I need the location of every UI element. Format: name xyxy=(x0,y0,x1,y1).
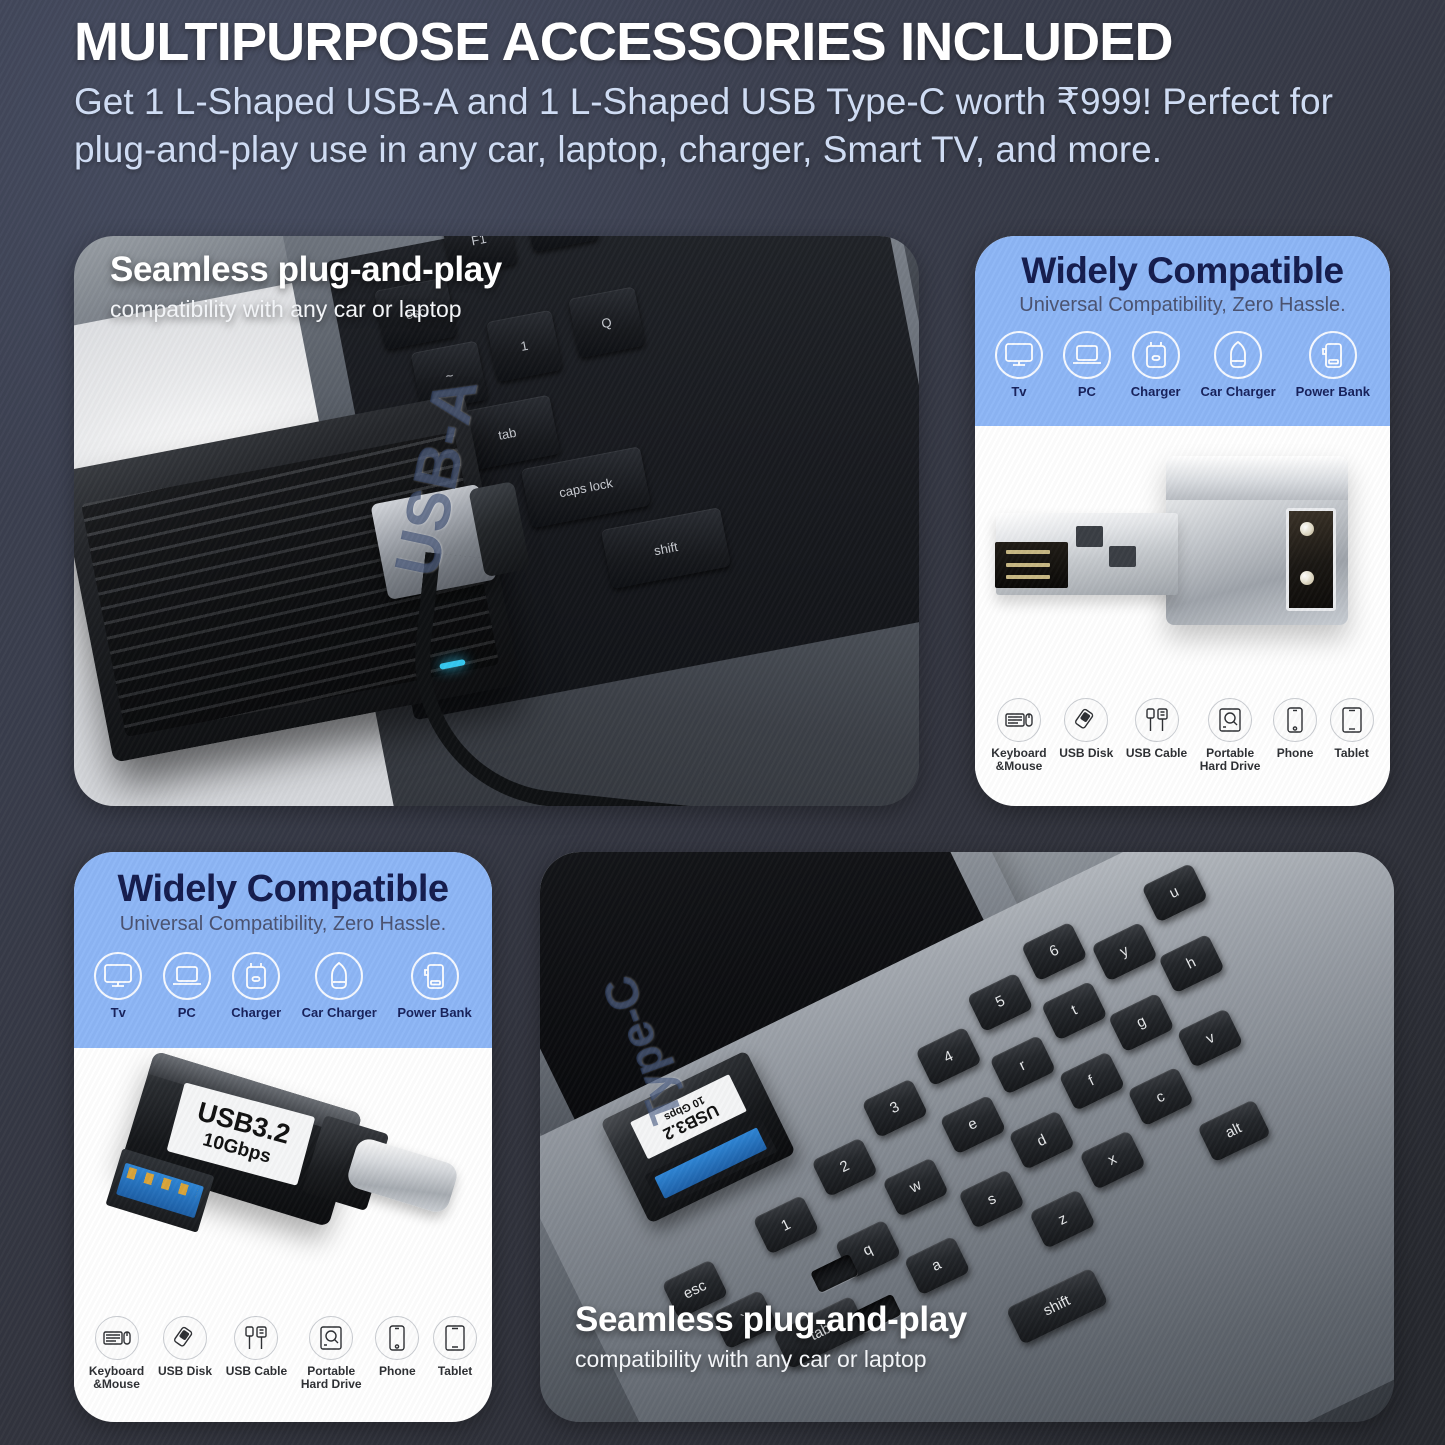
device-tablet-label: Tablet xyxy=(438,1365,472,1378)
device-charger: Charger xyxy=(1131,331,1181,399)
device-power-bank-label: Power Bank xyxy=(1296,385,1370,399)
usb-disk-icon xyxy=(1064,698,1108,742)
keycap-u: u xyxy=(1141,862,1208,922)
device-car-charger-label: Car Charger xyxy=(302,1006,377,1020)
keyboard-mouse-icon xyxy=(997,698,1041,742)
tv-icon xyxy=(995,331,1043,379)
device-tv: Tv xyxy=(995,331,1043,399)
phone-icon xyxy=(375,1316,419,1360)
device-tablet-label: Tablet xyxy=(1334,747,1368,760)
keycap-x: x xyxy=(1079,1130,1146,1190)
power-bank-icon xyxy=(1309,331,1357,379)
usb-cable-icon xyxy=(234,1316,278,1360)
panel-widely-compatible-usba: Widely Compatible Universal Compatibilit… xyxy=(975,236,1390,806)
compat-title: Widely Compatible xyxy=(74,868,492,911)
usb3-blue-insert xyxy=(115,1162,204,1218)
keycap-r: r xyxy=(989,1035,1056,1095)
keycap-d: d xyxy=(1008,1110,1075,1170)
keycap-y: y xyxy=(1091,921,1158,981)
wall-charger-icon xyxy=(1132,331,1180,379)
caption-title: Seamless plug-and-play xyxy=(110,250,630,290)
device-tv-label: Tv xyxy=(111,1006,126,1020)
usb-cable-icon xyxy=(1135,698,1179,742)
caption-bottom-right: Seamless plug-and-play compatibility wit… xyxy=(575,1300,1075,1373)
device-usb-disk-label: USB Disk xyxy=(1059,747,1113,760)
keycap-w: w xyxy=(883,1157,950,1217)
phone-icon xyxy=(1273,698,1317,742)
compat-white-footer: Keyboard &Mouse USB Disk xyxy=(74,1316,492,1391)
keycap-2: 2 xyxy=(812,1137,879,1197)
device-phone-label: Phone xyxy=(379,1365,416,1378)
tablet-icon xyxy=(433,1316,477,1360)
keycap-a: a xyxy=(904,1235,971,1295)
caption-title: Seamless plug-and-play xyxy=(575,1300,1075,1340)
car-charger-icon xyxy=(315,952,363,1000)
adapter-top-face xyxy=(1166,456,1349,500)
device-icon-row-bottom: Keyboard &Mouse USB Disk xyxy=(975,698,1390,773)
product-infographic: MULTIPURPOSE ACCESSORIES INCLUDED Get 1 … xyxy=(0,0,1445,1445)
device-usb-disk-label: USB Disk xyxy=(158,1365,212,1378)
compat-blue-header: Widely Compatible Universal Compatibilit… xyxy=(74,852,492,1048)
keycap-g: g xyxy=(1108,992,1175,1052)
device-pc-label: PC xyxy=(1078,385,1096,399)
keycap-3: 3 xyxy=(862,1078,929,1138)
device-phone: Phone xyxy=(1273,698,1317,760)
wall-charger-icon xyxy=(232,952,280,1000)
device-usb-disk: USB Disk xyxy=(1059,698,1113,760)
device-car-charger: Car Charger xyxy=(302,952,377,1020)
caption-subtitle: compatibility with any car or laptop xyxy=(110,296,630,323)
device-phone: Phone xyxy=(375,1316,419,1378)
compat-blue-header: Widely Compatible Universal Compatibilit… xyxy=(975,236,1390,426)
keycap-z: z xyxy=(1029,1189,1096,1249)
device-usb-disk: USB Disk xyxy=(158,1316,212,1378)
device-power-bank: Power Bank xyxy=(397,952,471,1020)
device-tablet: Tablet xyxy=(1330,698,1374,760)
compat-title: Widely Compatible xyxy=(975,250,1390,292)
device-power-bank-label: Power Bank xyxy=(397,1006,471,1020)
hard-drive-icon xyxy=(309,1316,353,1360)
keyboard-mouse-icon xyxy=(95,1316,139,1360)
compat-subtitle: Universal Compatibility, Zero Hassle. xyxy=(74,913,492,936)
panel-widely-compatible-usbc: Widely Compatible Universal Compatibilit… xyxy=(74,852,492,1422)
compat-white-footer: Keyboard &Mouse USB Disk xyxy=(975,698,1390,773)
device-usb-cable: USB Cable xyxy=(226,1316,287,1378)
keycap-4: 4 xyxy=(915,1027,982,1087)
device-icon-row-top: Tv PC xyxy=(975,331,1390,399)
device-icon-row-bottom: Keyboard &Mouse USB Disk xyxy=(74,1316,492,1391)
keycap-s: s xyxy=(959,1169,1026,1229)
page-subtitle: Get 1 L-Shaped USB-A and 1 L-Shaped USB … xyxy=(74,78,1334,173)
laptop-icon xyxy=(163,952,211,1000)
device-charger-label: Charger xyxy=(231,1006,281,1020)
device-keyboard-mouse: Keyboard &Mouse xyxy=(89,1316,144,1391)
page-title: MULTIPURPOSE ACCESSORIES INCLUDED xyxy=(74,14,1394,70)
product-image-usba-adapter xyxy=(975,426,1390,698)
laptop-icon xyxy=(1063,331,1111,379)
device-car-charger-label: Car Charger xyxy=(1201,385,1276,399)
keycap-t: t xyxy=(1041,980,1108,1040)
device-pc-label: PC xyxy=(178,1006,196,1020)
device-tv-label: Tv xyxy=(1011,385,1026,399)
header-block: MULTIPURPOSE ACCESSORIES INCLUDED Get 1 … xyxy=(74,14,1394,173)
usb-c-l-adapter: USB3.2 10Gbps xyxy=(74,1048,492,1316)
device-charger-label: Charger xyxy=(1131,385,1181,399)
product-image-usbc-adapter: USB3.2 10Gbps xyxy=(74,1048,492,1316)
power-bank-icon xyxy=(411,952,459,1000)
keycap-6: 6 xyxy=(1021,921,1088,981)
device-icon-row-top: Tv PC xyxy=(74,952,492,1020)
tv-icon xyxy=(94,952,142,1000)
device-hard-drive-label: Portable Hard Drive xyxy=(301,1365,362,1391)
caption-subtitle: compatibility with any car or laptop xyxy=(575,1346,1075,1373)
keycap-1: 1 xyxy=(753,1195,820,1255)
device-phone-label: Phone xyxy=(1277,747,1314,760)
tablet-icon xyxy=(1330,698,1374,742)
device-pc: PC xyxy=(1063,331,1111,399)
device-power-bank: Power Bank xyxy=(1296,331,1370,399)
keycap-h: h xyxy=(1158,933,1225,993)
keycap-v: v xyxy=(1177,1008,1244,1068)
device-tv: Tv xyxy=(94,952,142,1020)
compat-subtitle: Universal Compatibility, Zero Hassle. xyxy=(975,294,1390,317)
device-charger: Charger xyxy=(231,952,281,1020)
device-keyboard-mouse-label: Keyboard &Mouse xyxy=(89,1365,144,1391)
device-keyboard-mouse: Keyboard &Mouse xyxy=(991,698,1046,773)
device-usb-cable: USB Cable xyxy=(1126,698,1187,760)
device-hard-drive: Portable Hard Drive xyxy=(1200,698,1261,773)
hard-drive-icon xyxy=(1208,698,1252,742)
device-car-charger: Car Charger xyxy=(1201,331,1276,399)
keycap-c: c xyxy=(1127,1067,1194,1127)
device-pc: PC xyxy=(163,952,211,1020)
keycap-e: e xyxy=(940,1094,1007,1154)
usba-plug-mouth xyxy=(995,542,1068,588)
device-tablet: Tablet xyxy=(433,1316,477,1378)
device-usb-cable-label: USB Cable xyxy=(226,1365,287,1378)
usba-female-port xyxy=(1286,508,1336,611)
caption-top-left: Seamless plug-and-play compatibility wit… xyxy=(110,250,630,323)
device-keyboard-mouse-label: Keyboard &Mouse xyxy=(991,747,1046,773)
device-usb-cable-label: USB Cable xyxy=(1126,747,1187,760)
device-hard-drive: Portable Hard Drive xyxy=(301,1316,362,1391)
usb-a-l-adapter xyxy=(975,426,1390,698)
usba-male-plug xyxy=(996,513,1179,595)
usb-disk-icon xyxy=(163,1316,207,1360)
car-charger-icon xyxy=(1214,331,1262,379)
keycap-f: f xyxy=(1058,1051,1125,1111)
keycap-5: 5 xyxy=(967,972,1034,1032)
device-hard-drive-label: Portable Hard Drive xyxy=(1200,747,1261,773)
keycap-alt: alt xyxy=(1197,1099,1271,1163)
